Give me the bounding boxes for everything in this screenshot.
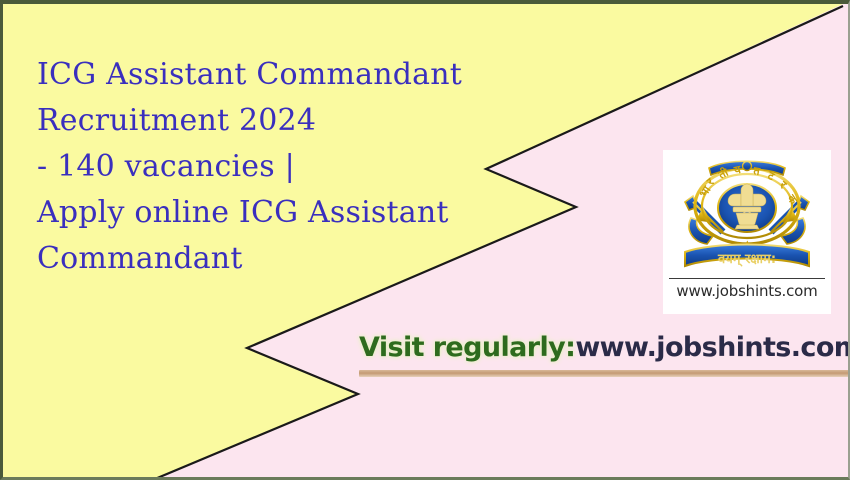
visit-label: Visit regularly: — [359, 332, 575, 363]
logo-card: भा र ती य त ट र क — [663, 150, 831, 314]
promo-banner: ICG Assistant Commandant Recruitment 202… — [0, 0, 850, 480]
logo-divider — [669, 278, 825, 279]
logo-site-url: www.jobshints.com — [663, 282, 831, 300]
svg-text:वयम् रक्षाम:: वयम् रक्षाम: — [717, 252, 776, 267]
coast-guard-emblem-icon: भा र ती य त ट र क — [663, 150, 831, 278]
visit-callout: Visit regularly:www.jobshints.com — [359, 332, 850, 363]
page-title: ICG Assistant Commandant Recruitment 202… — [37, 52, 507, 282]
visit-url-text[interactable]: www.jobshints.com — [575, 332, 850, 363]
visit-underline-bar — [359, 370, 849, 377]
